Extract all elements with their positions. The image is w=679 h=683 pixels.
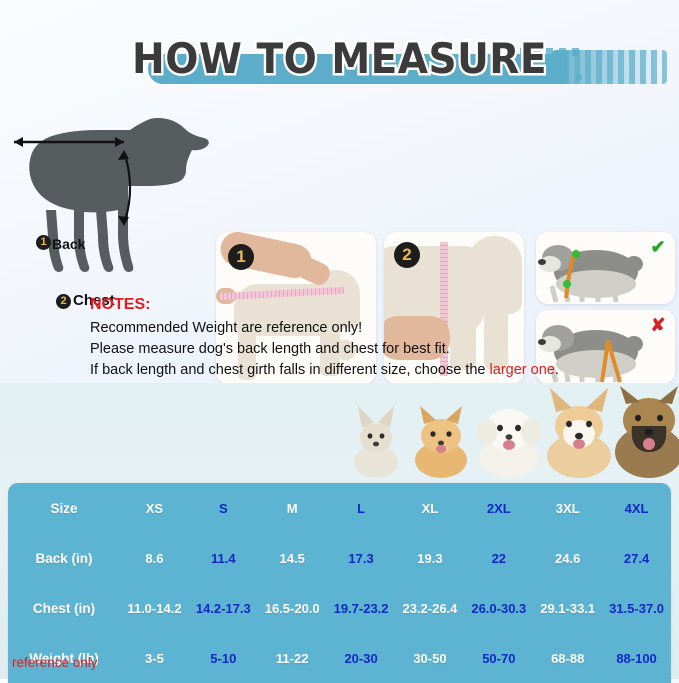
table-cell: 16.5-20.0 <box>258 601 327 616</box>
row-header: Size <box>8 501 120 516</box>
table-cell: 17.3 <box>327 551 396 566</box>
table-cell: 20-30 <box>327 651 396 666</box>
dog-size-progression <box>344 386 679 478</box>
table-cell: XL <box>396 501 465 516</box>
notes-line-2: Please measure dog's back length and che… <box>90 339 670 360</box>
table-cell: 30-50 <box>396 651 465 666</box>
table-cell: 50-70 <box>464 651 533 666</box>
photo-correct-position: ✔ <box>536 232 675 304</box>
table-cell: 11.4 <box>189 551 258 566</box>
table-cell: 2XL <box>464 501 533 516</box>
title-banner: HOW TO MEASURE <box>0 34 679 96</box>
notes-line-3-prefix: If back length and chest girth falls in … <box>90 362 490 378</box>
table-cell: 11-22 <box>258 651 327 666</box>
page-title: HOW TO MEASURE <box>24 34 655 83</box>
table-row: Size XS S M L XL 2XL 3XL 4XL <box>8 483 671 533</box>
table-cell: 5-10 <box>189 651 258 666</box>
dog-silhouette-diagram: 1 Back 2 Chest <box>0 114 212 274</box>
row-header: Back (in) <box>8 551 120 566</box>
checkmark-icon: ✔ <box>647 236 669 258</box>
table-row: Back (in) 8.6 11.4 14.5 17.3 19.3 22 24.… <box>8 533 671 583</box>
notes-line-3-highlight: larger one <box>490 362 555 378</box>
notes-line-1: Recommended Weight are reference only! <box>90 318 670 339</box>
table-cell: 29.1-33.1 <box>533 601 602 616</box>
table-cell: M <box>258 501 327 516</box>
back-label: Back <box>52 236 85 252</box>
table-cell: S <box>189 501 258 516</box>
row-header: Chest (in) <box>8 601 120 616</box>
dog-breeds-icon <box>344 386 679 478</box>
table-cell: 3-5 <box>120 651 189 666</box>
table-cell: 14.2-17.3 <box>189 601 258 616</box>
chest-badge: 2 <box>56 294 71 309</box>
table-row: Chest (in) 11.0-14.2 14.2-17.3 16.5-20.0… <box>8 583 671 633</box>
table-footnote: reference only <box>12 655 98 670</box>
photo-badge-1: 1 <box>228 244 254 270</box>
table-cell: 68-88 <box>533 651 602 666</box>
table-cell: 26.0-30.3 <box>464 601 533 616</box>
size-table: Size XS S M L XL 2XL 3XL 4XL Back (in) 8… <box>8 483 671 683</box>
notes-line-3: If back length and chest girth falls in … <box>90 360 670 381</box>
table-row: Weight (lb) 3-5 5-10 11-22 20-30 30-50 5… <box>8 633 671 683</box>
size-chart-page: HOW TO MEASURE 1 Back 2 Chest <box>0 0 679 679</box>
table-cell: 4XL <box>602 501 671 516</box>
table-cell: 88-100 <box>602 651 671 666</box>
table-cell: 31.5-37.0 <box>602 601 671 616</box>
table-cell: 22 <box>464 551 533 566</box>
table-cell: 23.2-26.4 <box>396 601 465 616</box>
notes-block: Recommended Weight are reference only! P… <box>90 296 670 381</box>
table-cell: 3XL <box>533 501 602 516</box>
table-cell: 19.7-23.2 <box>327 601 396 616</box>
table-cell: L <box>327 501 396 516</box>
table-cell: 19.3 <box>396 551 465 566</box>
table-cell: 24.6 <box>533 551 602 566</box>
table-cell: 8.6 <box>120 551 189 566</box>
measure-panels: 1 Back 2 Chest 1 2 <box>0 114 679 274</box>
photo-badge-2: 2 <box>394 242 420 268</box>
table-cell: XS <box>120 501 189 516</box>
table-cell: 11.0-14.2 <box>120 601 189 616</box>
dog-silhouette-icon <box>0 114 212 274</box>
table-cell: 14.5 <box>258 551 327 566</box>
table-cell: 27.4 <box>602 551 671 566</box>
back-badge: 1 <box>36 235 51 250</box>
notes-line-3-suffix: . <box>555 362 559 378</box>
